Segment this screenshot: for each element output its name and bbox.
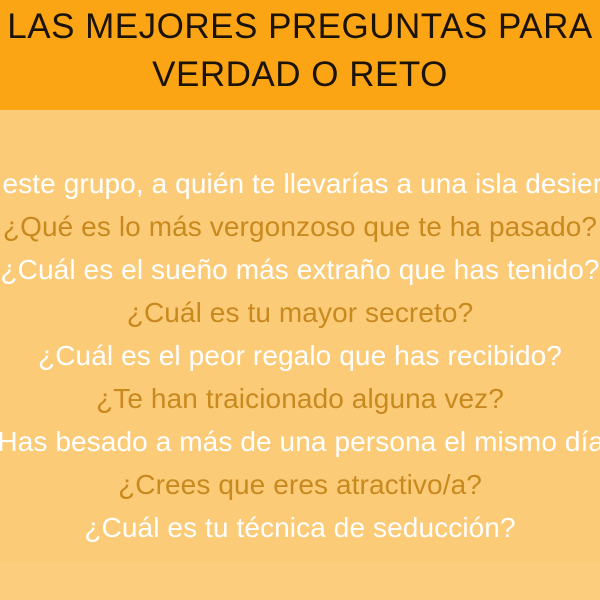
questions-inner: De este grupo, a quién te llevarías a un… <box>0 162 600 549</box>
question-line: ¿Qué es lo más vergonzoso que te ha pasa… <box>0 205 600 248</box>
page-title-line-2: VERDAD O RETO <box>152 57 448 92</box>
question-line: ¿Cuál es tu técnica de seducción? <box>0 506 600 549</box>
question-line: ¿Has besado a más de una persona el mism… <box>0 420 600 463</box>
poster-image: LAS MEJORES PREGUNTAS PARA VERDAD O RETO… <box>0 0 600 600</box>
question-line: De este grupo, a quién te llevarías a un… <box>0 162 600 205</box>
header-band: LAS MEJORES PREGUNTAS PARA VERDAD O RETO <box>0 0 600 110</box>
question-line: ¿Cuál es el sueño más extraño que has te… <box>0 248 600 291</box>
question-line: ¿Te han traicionado alguna vez? <box>0 377 600 420</box>
question-line: ¿Cuál es el peor regalo que has recibido… <box>0 334 600 377</box>
question-line: ¿Cuál es tu mayor secreto? <box>0 291 600 334</box>
page-title-line-1: LAS MEJORES PREGUNTAS PARA <box>7 9 592 44</box>
questions-list: De este grupo, a quién te llevarías a un… <box>0 110 600 600</box>
question-line: ¿Crees que eres atractivo/a? <box>0 463 600 506</box>
